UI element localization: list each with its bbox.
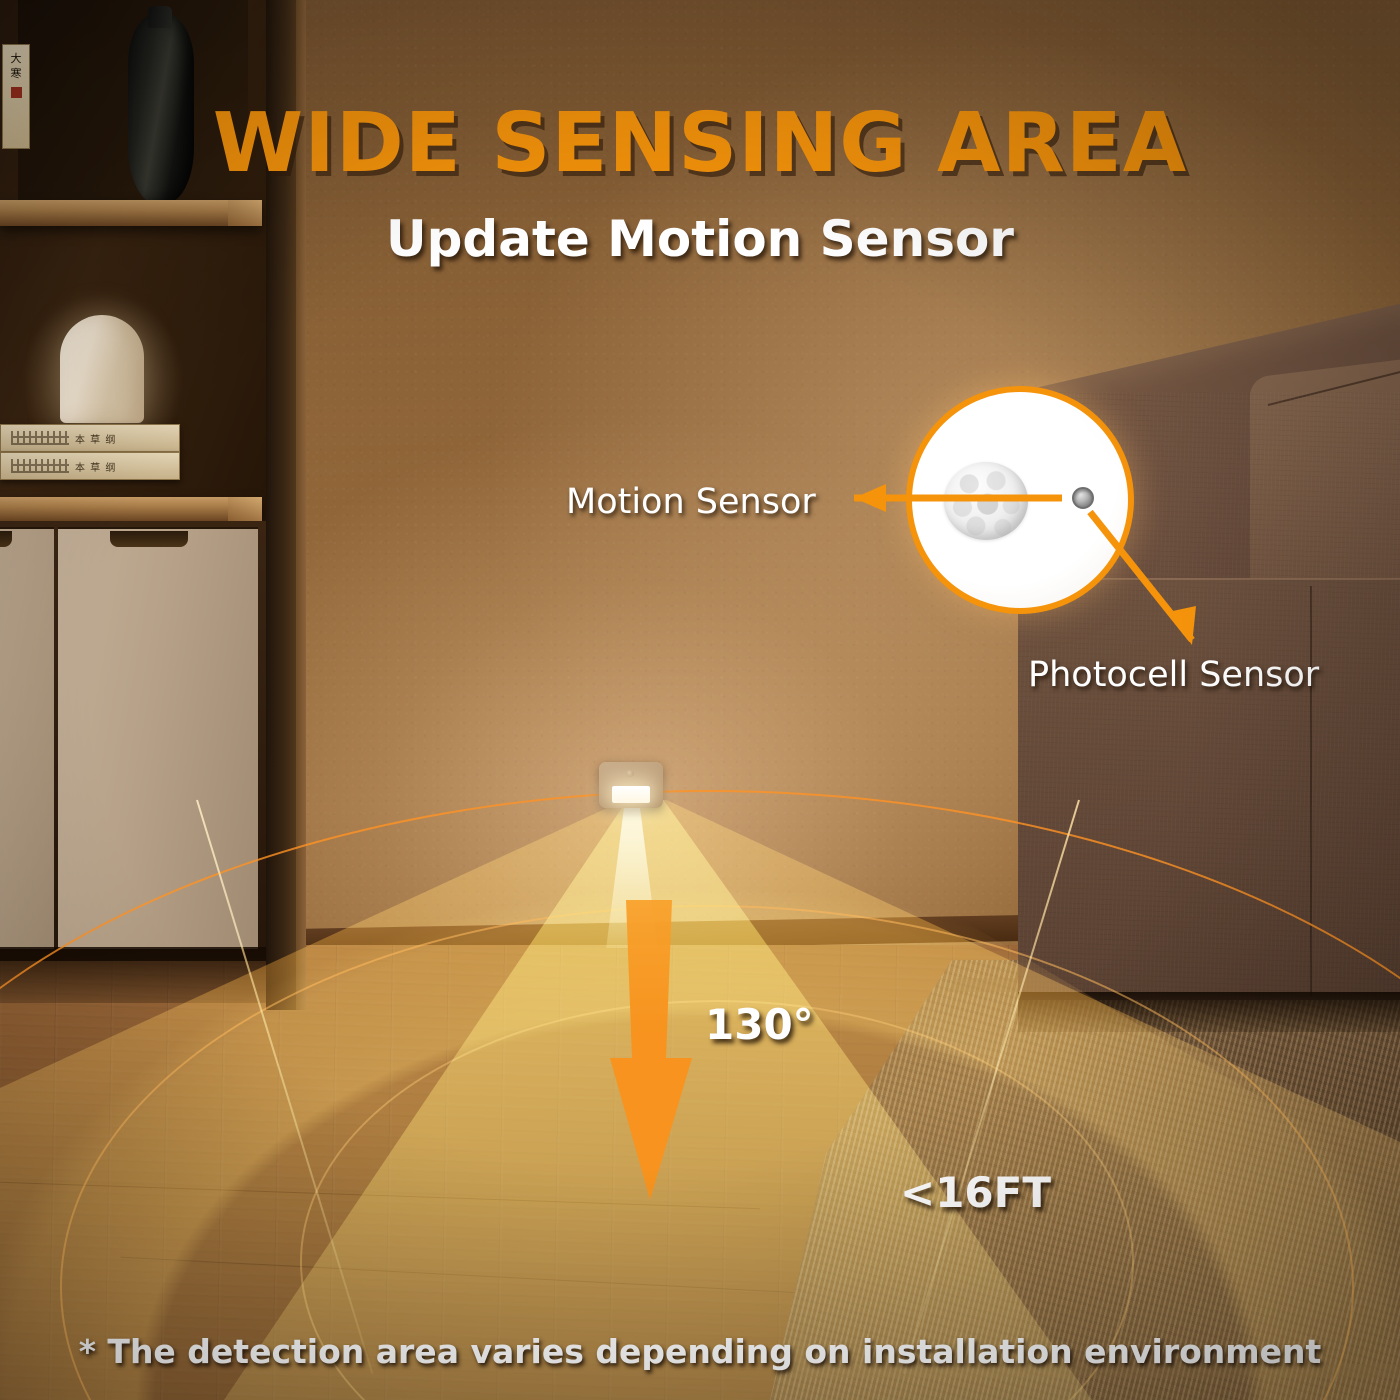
detection-angle-label: 130° <box>705 1000 814 1049</box>
photocell-sensor-label: Photocell Sensor <box>1028 655 1319 695</box>
detection-distance-label: <16FT <box>900 1168 1051 1217</box>
motion-sensor-label: Motion Sensor <box>566 482 816 522</box>
product-feature-image: 大 寒 本 草 纲 本 草 纲 <box>0 0 1400 1400</box>
page-subtitle: Update Motion Sensor <box>0 210 1400 268</box>
page-title: WIDE SENSING AREA <box>0 96 1400 191</box>
disclaimer-footnote: * The detection area varies depending on… <box>0 1332 1400 1371</box>
